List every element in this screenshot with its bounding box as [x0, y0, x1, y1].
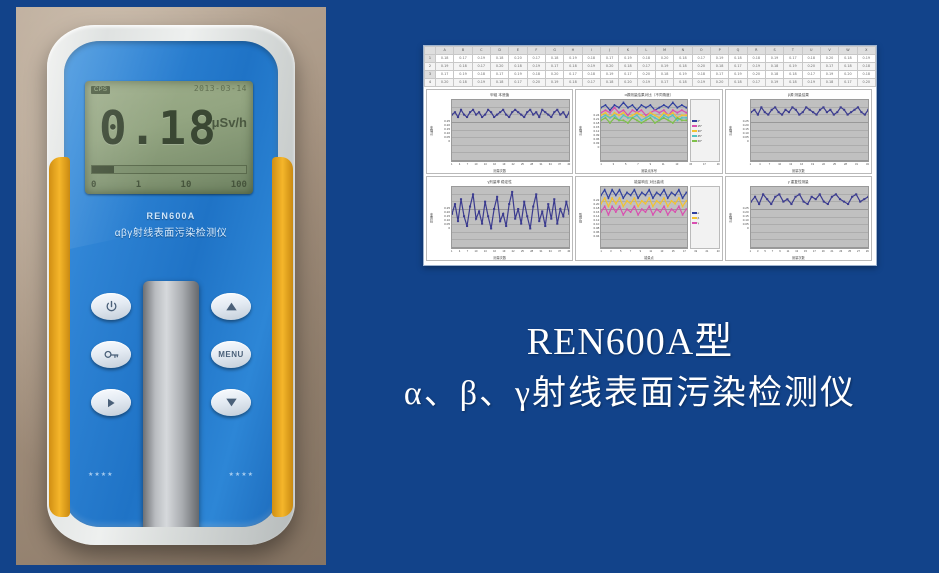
spreadsheet-col-header[interactable]: B — [454, 47, 472, 55]
chart-series-marker — [544, 225, 546, 227]
chart-series-marker — [490, 228, 492, 230]
spreadsheet-cell[interactable]: 0.17 — [436, 71, 454, 79]
spreadsheet-cell[interactable]: 0.18 — [655, 71, 673, 79]
chart-series-marker — [774, 196, 776, 198]
spreadsheet-cell[interactable]: 0.18 — [692, 87, 710, 88]
spreadsheet-cell[interactable]: 0.18 — [747, 55, 765, 63]
spreadsheet-row-header[interactable]: 3 — [425, 71, 436, 79]
spreadsheet-cell[interactable]: 0.17 — [564, 71, 582, 79]
chart-series-marker — [601, 114, 602, 116]
spreadsheet-cell[interactable]: 0.18 — [765, 71, 783, 79]
chart-series-marker — [605, 114, 607, 116]
spreadsheet-cell[interactable]: 0.20 — [619, 79, 637, 87]
chart-series-marker — [452, 114, 453, 116]
chart-series-marker — [532, 206, 534, 208]
spreadsheet-cell[interactable]: 0.18 — [619, 63, 637, 71]
spreadsheet-cell[interactable]: 0.18 — [436, 87, 454, 88]
chart-series-marker — [538, 220, 540, 222]
spreadsheet-cell[interactable]: 0.17 — [545, 87, 563, 88]
spreadsheet-cell[interactable]: 0.18 — [564, 79, 582, 87]
spreadsheet-cell[interactable]: 0.18 — [729, 55, 747, 63]
chart-series-marker — [481, 116, 483, 118]
lcd-unit: μSv/h — [212, 115, 247, 130]
chart-series-marker — [649, 189, 651, 191]
spreadsheet-cell[interactable]: 0.20 — [710, 79, 728, 87]
spreadsheet-cell[interactable]: 0.20 — [765, 87, 783, 88]
chart-series-marker — [667, 205, 669, 207]
spreadsheet-cell[interactable]: 0.18 — [454, 63, 472, 71]
chart-y-axis: 响应值0.220.200.180.160.140.120.100.080.060… — [578, 186, 600, 249]
spreadsheet-cell[interactable]: 0.17 — [802, 71, 820, 79]
spreadsheet-cell[interactable]: 0.19 — [619, 55, 637, 63]
spreadsheet-cell[interactable]: 0.17 — [784, 55, 802, 63]
chart-series-marker — [650, 104, 652, 106]
chart-series-marker — [627, 200, 629, 202]
chart-series-marker — [623, 114, 625, 116]
chart-series-marker — [767, 114, 769, 116]
chart-series-marker — [636, 112, 638, 114]
chart-series-marker — [550, 218, 552, 220]
chart-series-marker — [770, 203, 772, 205]
chart-y-tick: 0 — [734, 139, 749, 143]
chart-series-marker — [654, 114, 656, 116]
spreadsheet-cell[interactable]: 0.18 — [527, 71, 545, 79]
chart-series-marker — [612, 197, 614, 199]
spreadsheet-cell[interactable]: 0.19 — [784, 63, 802, 71]
spreadsheet-cell[interactable]: 0.18 — [820, 79, 838, 87]
spreadsheet-col-header[interactable]: K — [619, 47, 637, 55]
chart-series-marker — [511, 191, 513, 193]
spreadsheet-cell[interactable]: 0.19 — [490, 87, 508, 88]
spreadsheet-cell[interactable]: 0.19 — [839, 87, 857, 88]
chart-legend-swatch — [692, 125, 697, 127]
spreadsheet-cell[interactable]: 0.17 — [600, 55, 618, 63]
chart-grid: 甲组 本底值计数率0.250.200.150.100.0501471013161… — [424, 87, 876, 263]
chart-series-marker — [672, 122, 674, 124]
chart-series-marker — [632, 117, 634, 119]
spreadsheet-cell[interactable]: 0.18 — [600, 87, 618, 88]
spreadsheet-cell[interactable]: 0.18 — [545, 55, 563, 63]
chart-series-marker — [812, 111, 814, 113]
spreadsheet-cell[interactable]: 0.19 — [436, 63, 454, 71]
chart-series-svg — [452, 187, 569, 248]
chart-series-marker — [649, 205, 651, 207]
chart-series-marker — [663, 104, 665, 106]
chart-series-marker — [681, 109, 683, 111]
spreadsheet-cell[interactable]: 0.18 — [839, 63, 857, 71]
chart-series-marker — [686, 112, 687, 114]
chart-series-marker — [508, 203, 510, 205]
menu-button[interactable]: MENU — [211, 341, 251, 368]
spreadsheet-cell[interactable]: 0.19 — [600, 71, 618, 79]
chart-y-tick: 0 — [435, 139, 450, 143]
spreadsheet-cell[interactable]: 0.18 — [637, 87, 655, 88]
chart-series-marker — [756, 114, 758, 116]
chart-legend-item: 0° — [692, 119, 718, 123]
arrow-up-icon — [225, 301, 238, 312]
spreadsheet-cell[interactable]: 0.17 — [509, 79, 527, 87]
chart-series-marker — [499, 111, 501, 113]
chart-series-marker — [605, 117, 607, 119]
spreadsheet-cell[interactable]: 0.20 — [692, 63, 710, 71]
spreadsheet-cell[interactable]: 0.19 — [472, 55, 490, 63]
spreadsheet-cell[interactable]: 0.18 — [784, 71, 802, 79]
chart-series-marker — [505, 225, 507, 227]
spreadsheet-cell[interactable]: 0.18 — [857, 63, 875, 71]
lcd-mode-tag: CPS — [91, 86, 110, 94]
chart-series-marker — [550, 116, 552, 118]
chart-legend-item: β — [692, 216, 718, 220]
spreadsheet-cell[interactable]: 0.18 — [582, 55, 600, 63]
spreadsheet-cell[interactable]: 0.19 — [527, 63, 545, 71]
headline: REN600A型 α、β、γ射线表面污染检测仪 — [330, 318, 930, 422]
spreadsheet-cell[interactable]: 0.19 — [710, 55, 728, 63]
chart-series-marker — [526, 111, 528, 113]
spreadsheet-cell[interactable]: 0.18 — [564, 63, 582, 71]
chart-y-ticks: 0.250.200.150.100.050 — [734, 119, 750, 143]
spreadsheet-cell[interactable]: 0.17 — [729, 87, 747, 88]
chart-series-marker — [850, 111, 852, 113]
chart-series-marker — [568, 111, 569, 113]
spreadsheet-cell[interactable]: 0.20 — [674, 87, 692, 88]
spreadsheet-cell[interactable]: 0.17 — [655, 79, 673, 87]
chart-series-marker — [808, 109, 810, 111]
spreadsheet-col-header[interactable]: X — [857, 47, 875, 55]
chart-series-marker — [751, 201, 752, 203]
spreadsheet-cell[interactable]: 0.19 — [472, 79, 490, 87]
chart-series-marker — [810, 196, 812, 198]
chart-title: β源 测量结果 — [728, 92, 869, 99]
spreadsheet-col-header[interactable]: O — [692, 47, 710, 55]
chart-y-axis: 计数率0.250.200.150.100.050 — [728, 186, 750, 249]
chart-series-marker — [656, 208, 658, 210]
chart-series-marker — [529, 228, 531, 230]
spreadsheet-cell[interactable]: 0.18 — [436, 55, 454, 63]
spreadsheet-cell[interactable]: 0.17 — [729, 63, 747, 71]
chart-series-marker — [663, 112, 665, 114]
spreadsheet-cell[interactable]: 0.19 — [564, 55, 582, 63]
spreadsheet-cell[interactable]: 0.18 — [692, 71, 710, 79]
spreadsheet-cell[interactable]: 0.17 — [619, 71, 637, 79]
chart-series-marker — [565, 116, 567, 118]
chart-series-marker — [559, 114, 561, 116]
chart-series-marker — [627, 192, 629, 194]
spreadsheet-cell[interactable]: 0.18 — [490, 79, 508, 87]
chart-series-marker — [514, 218, 516, 220]
spreadsheet-cell[interactable]: 0.20 — [802, 63, 820, 71]
chart-series-marker — [478, 210, 480, 212]
chart-legend-label: 45° — [698, 134, 702, 138]
chart-series-marker — [660, 203, 662, 205]
chart-title: 甲组 本底值 — [429, 92, 570, 99]
power-button[interactable] — [91, 293, 131, 320]
spreadsheet-col-header[interactable]: D — [490, 47, 508, 55]
chart-series-marker — [452, 213, 453, 215]
spreadsheet-cell[interactable]: 0.17 — [692, 55, 710, 63]
spreadsheet-cell[interactable]: 0.19 — [509, 71, 527, 79]
spreadsheet-cell[interactable]: 0.17 — [747, 79, 765, 87]
spreadsheet-col-header[interactable]: W — [839, 47, 857, 55]
spreadsheet-cell[interactable]: 0.20 — [436, 79, 454, 87]
spreadsheet-cell[interactable]: 0.19 — [674, 71, 692, 79]
spreadsheet-col-header[interactable]: N — [674, 47, 692, 55]
spreadsheet-col-header[interactable]: J — [600, 47, 618, 55]
chart-y-label: 响应值 — [578, 213, 584, 223]
spreadsheet-cell[interactable]: 0.17 — [820, 87, 838, 88]
spreadsheet-cell[interactable]: 0.18 — [490, 55, 508, 63]
spreadsheet-cell[interactable]: 0.20 — [839, 71, 857, 79]
chart-plot-area — [600, 186, 687, 249]
spreadsheet-cell[interactable]: 0.18 — [857, 87, 875, 88]
chart-series-marker — [514, 109, 516, 111]
spreadsheet-cell[interactable]: 0.19 — [692, 79, 710, 87]
spreadsheet-cell[interactable]: 0.17 — [472, 63, 490, 71]
spreadsheet-cell[interactable]: 0.19 — [655, 87, 673, 88]
spreadsheet-cell[interactable]: 0.20 — [747, 71, 765, 79]
play-button[interactable] — [91, 389, 131, 416]
chart-series-marker — [668, 119, 670, 121]
spreadsheet-col-header[interactable]: R — [747, 47, 765, 55]
chart-series-marker — [493, 208, 495, 210]
spreadsheet-cell[interactable]: 0.20 — [857, 79, 875, 87]
chart-series-marker — [627, 117, 629, 119]
chart-series-marker — [634, 205, 636, 207]
spreadsheet-cell[interactable]: 0.18 — [710, 63, 728, 71]
spreadsheet-cell[interactable]: 0.18 — [472, 71, 490, 79]
chart-series-marker — [659, 112, 661, 114]
spreadsheet-header-row: ABCDEFGHIJKLMNOPQRSTUVWX — [425, 47, 876, 55]
spreadsheet-col-header[interactable]: Q — [729, 47, 747, 55]
spreadsheet-cell[interactable]: 0.19 — [710, 87, 728, 88]
spreadsheet-cell[interactable]: 0.19 — [765, 79, 783, 87]
spreadsheet-cell[interactable]: 0.19 — [784, 87, 802, 88]
chart-series-marker — [535, 111, 537, 113]
spreadsheet-cell[interactable]: 0.18 — [674, 55, 692, 63]
chart-legend-label: 0° — [698, 119, 701, 123]
chart-series-marker — [601, 203, 602, 205]
spreadsheet-cell[interactable]: 0.18 — [582, 71, 600, 79]
spreadsheet-cell[interactable]: 0.20 — [600, 63, 618, 71]
spreadsheet-cell[interactable]: 0.19 — [655, 63, 673, 71]
spreadsheet-cell[interactable]: 0.19 — [582, 63, 600, 71]
chart-series-marker — [619, 119, 621, 121]
spreadsheet-cell[interactable]: 0.20 — [820, 55, 838, 63]
spreadsheet-cell[interactable]: 0.19 — [637, 79, 655, 87]
chart-legend-item: γ — [692, 221, 718, 225]
chart-legend-item: 30° — [692, 129, 718, 133]
lcd-scale-tick: 0 — [91, 180, 96, 190]
chart-series-marker — [469, 206, 471, 208]
chart-series-marker — [675, 194, 677, 196]
chart-series-marker — [681, 104, 683, 106]
chart-series-marker — [645, 114, 647, 116]
spreadsheet-cell[interactable]: 0.18 — [765, 63, 783, 71]
spreadsheet-cell[interactable]: 0.17 — [472, 87, 490, 88]
chart-series-marker — [532, 114, 534, 116]
spreadsheet-cell[interactable]: 0.17 — [490, 71, 508, 79]
chart-series-marker — [839, 198, 841, 200]
spreadsheet-cell[interactable]: 0.19 — [857, 55, 875, 63]
lcd-value: 0.18 — [99, 105, 218, 151]
chart-series-marker — [630, 194, 632, 196]
spreadsheet-col-header[interactable]: C — [472, 47, 490, 55]
spreadsheet-cell[interactable]: 0.20 — [564, 87, 582, 88]
power-icon — [105, 300, 118, 313]
spreadsheet-col-header[interactable]: E — [509, 47, 527, 55]
chart-series-marker — [493, 116, 495, 118]
spreadsheet-col-header[interactable]: F — [527, 47, 545, 55]
spreadsheet-cell[interactable]: 0.19 — [765, 55, 783, 63]
spreadsheet-cell[interactable]: 0.17 — [454, 55, 472, 63]
chart-series-marker — [623, 102, 625, 104]
chart-series-marker — [652, 205, 654, 207]
chart-series-marker — [630, 211, 632, 213]
chart-series-marker — [802, 201, 804, 203]
spreadsheet-cell[interactable]: 0.19 — [802, 79, 820, 87]
chart-series-marker — [472, 193, 474, 195]
chart-series-marker — [860, 111, 862, 113]
spreadsheet-col-header[interactable]: I — [582, 47, 600, 55]
chart-series-marker — [650, 114, 652, 116]
chart-x-label: 能量点 — [576, 255, 721, 260]
chart-series-marker — [623, 109, 625, 111]
spreadsheet-col-header[interactable]: S — [765, 47, 783, 55]
spreadsheet-body: 10.180.170.190.180.200.170.180.190.180.1… — [425, 55, 876, 88]
spreadsheet-col-header[interactable]: G — [545, 47, 563, 55]
spreadsheet-cell[interactable]: 0.18 — [839, 55, 857, 63]
chart-series-marker — [825, 111, 827, 113]
spreadsheet-cell[interactable]: 0.19 — [729, 71, 747, 79]
device-front-face: CPS 2013-03-14 0.18 μSv/h 0 1 10 100 REN… — [64, 41, 278, 527]
spreadsheet-cell[interactable]: 0.18 — [747, 87, 765, 88]
chart-series-svg — [601, 100, 686, 161]
chart-series-marker — [619, 112, 621, 114]
spreadsheet-cell[interactable]: 0.20 — [545, 71, 563, 79]
spreadsheet-cell[interactable]: 0.18 — [857, 71, 875, 79]
spreadsheet-cell[interactable]: 0.18 — [637, 55, 655, 63]
spreadsheet-col-header[interactable]: U — [802, 47, 820, 55]
spreadsheet-cell[interactable]: 0.18 — [509, 87, 527, 88]
spreadsheet-cell[interactable]: 0.20 — [655, 55, 673, 63]
spreadsheet-cell[interactable]: 0.18 — [454, 79, 472, 87]
spreadsheet-cell[interactable]: 0.20 — [527, 79, 545, 87]
spreadsheet-cell[interactable]: 0.17 — [839, 79, 857, 87]
chart-series-marker — [678, 197, 680, 199]
chart-series-marker — [682, 197, 684, 199]
spreadsheet-cell[interactable]: 0.17 — [582, 79, 600, 87]
chart-body: 计数率0.240.210.180.150.120.090.060.0300°15… — [578, 99, 719, 162]
spreadsheet-row-header[interactable]: 2 — [425, 63, 436, 71]
spreadsheet-cell[interactable]: 0.20 — [454, 87, 472, 88]
spreadsheet-cell[interactable]: 0.18 — [674, 63, 692, 71]
spreadsheet-row: 30.170.190.180.170.190.180.200.170.180.1… — [425, 71, 876, 79]
chart-series-marker — [457, 220, 459, 222]
spreadsheet-row-header[interactable]: 4 — [425, 79, 436, 87]
spreadsheet-cell[interactable]: 0.20 — [509, 55, 527, 63]
chart-series-marker — [627, 208, 629, 210]
chart-series-marker — [608, 214, 610, 216]
chart-series-marker — [612, 205, 614, 207]
chart-y-label: 计数率 — [578, 126, 584, 136]
spreadsheet-col-header[interactable]: H — [564, 47, 582, 55]
chart-series-marker — [863, 198, 865, 200]
chart-series-marker — [678, 205, 680, 207]
chart-series-marker — [863, 114, 865, 116]
spreadsheet-col-header[interactable]: T — [784, 47, 802, 55]
spreadsheet-cell[interactable]: 0.18 — [729, 79, 747, 87]
spreadsheet-cell[interactable]: 0.17 — [527, 55, 545, 63]
spreadsheet-cell[interactable]: 0.19 — [545, 79, 563, 87]
chart-y-ticks: 0.220.200.180.160.140.120.100.080.060.04 — [584, 198, 600, 238]
chart-series-marker — [786, 198, 788, 200]
spreadsheet-cell[interactable]: 0.18 — [802, 55, 820, 63]
spreadsheet-cell[interactable]: 0.20 — [637, 71, 655, 79]
chart-legend: αβγ — [690, 186, 720, 249]
chart-series-marker — [659, 119, 661, 121]
down-button[interactable] — [211, 389, 251, 416]
chart-series-marker — [641, 109, 643, 111]
chart-series-marker — [667, 197, 669, 199]
chart-series-marker — [612, 189, 614, 191]
spreadsheet-cell[interactable]: 0.17 — [637, 63, 655, 71]
spreadsheet-col-header[interactable]: P — [710, 47, 728, 55]
chart-series-marker — [517, 111, 519, 113]
spreadsheet-row-header[interactable]: 5 — [425, 87, 436, 88]
spreadsheet-cell[interactable]: 0.18 — [802, 87, 820, 88]
chart-y-ticks: 0.250.200.150.100.050 — [435, 206, 451, 230]
spreadsheet-cell[interactable]: 0.18 — [527, 87, 545, 88]
spreadsheet-cell[interactable]: 0.17 — [710, 71, 728, 79]
lcd-scale-tick: 10 — [181, 180, 192, 190]
spreadsheet-cell[interactable]: 0.18 — [674, 79, 692, 87]
play-icon — [105, 397, 117, 409]
spreadsheet-cell[interactable]: 0.18 — [600, 79, 618, 87]
chart-series-marker — [460, 198, 462, 200]
chart-series-marker — [562, 111, 564, 113]
chart-series-marker — [668, 117, 670, 119]
chart-series-marker — [619, 189, 621, 191]
up-button[interactable] — [211, 293, 251, 320]
device-model-label-cn: αβγ射线表面污染检测仪 — [64, 224, 278, 239]
spreadsheet-cell[interactable]: 0.19 — [820, 71, 838, 79]
chart-series-marker — [641, 208, 643, 210]
spreadsheet-cell[interactable]: 0.18 — [784, 79, 802, 87]
chart-series-marker — [818, 193, 820, 195]
chart-x-label: 测量次数 — [726, 168, 871, 173]
chart-series-marker — [654, 122, 656, 124]
spreadsheet-cell[interactable]: 0.20 — [490, 63, 508, 71]
spreadsheet-cell[interactable]: 0.19 — [582, 87, 600, 88]
spreadsheet-cell[interactable]: 0.19 — [454, 71, 472, 79]
spreadsheet-row-header[interactable]: 1 — [425, 55, 436, 63]
chart-series-marker — [846, 114, 848, 116]
spreadsheet-cell[interactable]: 0.17 — [545, 63, 563, 71]
key-button[interactable] — [91, 341, 131, 368]
chart-series-marker — [553, 198, 555, 200]
spreadsheet-col-header[interactable]: M — [655, 47, 673, 55]
spreadsheet-cell[interactable]: 0.17 — [820, 63, 838, 71]
chart-series-marker — [601, 119, 602, 121]
chart-y-ticks: 0.250.200.150.100.050 — [435, 119, 451, 143]
spreadsheet-cell[interactable]: 0.18 — [509, 63, 527, 71]
spreadsheet-col-header[interactable]: L — [637, 47, 655, 55]
spreadsheet-col-header[interactable]: A — [436, 47, 454, 55]
chart-series-marker — [686, 117, 687, 119]
spreadsheet-cell[interactable]: 0.19 — [747, 63, 765, 71]
spreadsheet-col-header[interactable]: V — [820, 47, 838, 55]
chart-series-marker — [517, 208, 519, 210]
spreadsheet-cell[interactable]: 0.17 — [619, 87, 637, 88]
